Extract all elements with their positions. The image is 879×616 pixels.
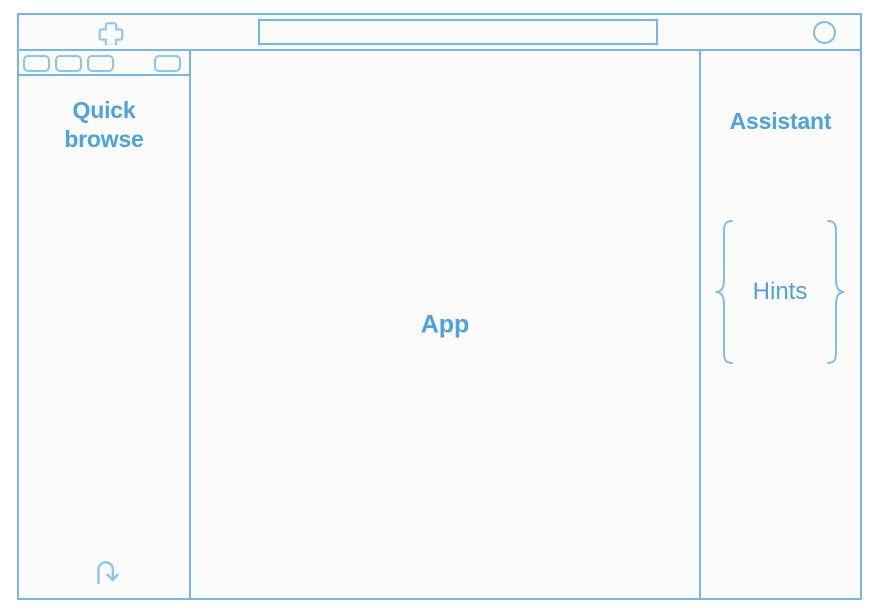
search-input[interactable] — [258, 19, 658, 45]
sidebar-toolbar — [19, 51, 189, 76]
plus-icon — [98, 21, 124, 45]
add-button[interactable] — [98, 21, 124, 45]
sidebar-tool-button-4[interactable] — [154, 55, 181, 72]
sidebar-tool-button-2[interactable] — [55, 55, 82, 72]
app-canvas[interactable]: App — [191, 51, 701, 598]
app-canvas-label: App — [191, 310, 699, 339]
sidebar: Quick browse — [19, 51, 191, 598]
sidebar-tool-button-3[interactable] — [87, 55, 114, 72]
avatar[interactable] — [813, 21, 836, 44]
sidebar-tool-button-1[interactable] — [23, 55, 50, 72]
assistant-panel: Assistant Hints — [701, 51, 860, 598]
wireframe-window: Quick browse App Assistant Hints — [17, 13, 862, 600]
hints-block: Hints — [708, 218, 852, 366]
sidebar-title: Quick browse — [19, 96, 189, 155]
close-brace-icon — [822, 218, 848, 366]
sidebar-title-line-1: Quick — [19, 96, 189, 125]
back-button[interactable] — [91, 556, 125, 586]
header-bar — [19, 15, 860, 51]
assistant-title: Assistant — [701, 108, 860, 135]
sidebar-title-line-2: browse — [19, 125, 189, 154]
body-region: Quick browse App Assistant Hints — [19, 51, 860, 598]
u-turn-arrow-icon — [91, 556, 125, 586]
